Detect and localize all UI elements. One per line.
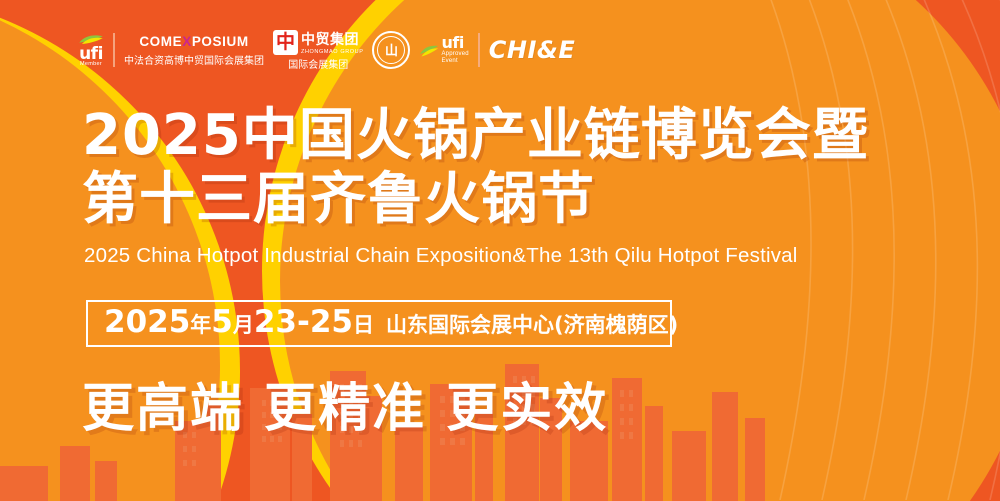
ufi-member-label: Member (80, 61, 102, 68)
logo-divider (478, 33, 480, 67)
date-year: 2025 (104, 304, 190, 340)
date-month: 5 (211, 304, 233, 340)
comexposium-word-left: COME (139, 34, 182, 49)
zhongmao-english-name: ZHONGMAO GROUP (301, 49, 363, 55)
logo-chie: CHI&E (489, 36, 575, 64)
event-slogan: 更高端 更精准 更实效 (82, 380, 608, 438)
comexposium-chinese-name: 中法合资高博中贸国际会展集团 (124, 51, 264, 67)
date-day-unit: 日 (353, 313, 374, 337)
logo-divider (113, 33, 115, 67)
ufi-event-label: Event (441, 58, 468, 65)
date-days: 23-25 (254, 304, 353, 340)
date-month-unit: 月 (233, 313, 254, 337)
ufi-approved-label: Approved (441, 51, 468, 58)
chie-wordmark: CHI&E (489, 36, 575, 64)
ufi-wing-icon (419, 41, 439, 59)
logo-zhongmao-group: 中 中贸集团 ZHONGMAO GROUP 国际会展集团 (273, 29, 363, 71)
shandong-seal-icon: 山 (372, 31, 410, 69)
logo-ufi-approved-event: ufi Approved Event (419, 35, 468, 65)
headline-line-2: 第十三届齐鲁火锅节 (82, 168, 922, 232)
logo-comexposium: COMEXPOSIUM 中法合资高博中贸国际会展集团 (124, 34, 264, 67)
logo-ufi-member: ufi Member (78, 33, 104, 68)
page-subtitle: 2025 China Hotpot Industrial Chain Expos… (84, 244, 798, 268)
date-venue-box: 2025年5月23-25日 山东国际会展中心(济南槐荫区) (86, 300, 672, 347)
event-poster: ufi Member COMEXPOSIUM 中法合资高博中贸国际会展集团 中 … (0, 0, 1000, 501)
event-date: 2025年5月23-25日 (104, 307, 374, 341)
zhongmao-mark-icon: 中 (273, 30, 298, 55)
ufi-wordmark: ufi (441, 35, 468, 51)
sponsor-logo-strip: ufi Member COMEXPOSIUM 中法合资高博中贸国际会展集团 中 … (78, 26, 575, 74)
comexposium-wordmark: COMEXPOSIUM (139, 34, 248, 49)
page-title: 2025中国火锅产业链博览会暨 第十三届齐鲁火锅节 (82, 104, 922, 232)
headline-line-1: 2025中国火锅产业链博览会暨 (82, 103, 869, 168)
zhongmao-chinese-name: 中贸集团 (301, 29, 363, 49)
comexposium-word-x: X (182, 34, 192, 49)
comexposium-word-right: POSIUM (192, 34, 249, 49)
zhongmao-subtitle: 国际会展集团 (288, 56, 348, 71)
event-venue: 山东国际会展中心(济南槐荫区) (386, 309, 678, 339)
ufi-wordmark: ufi (79, 47, 103, 61)
logo-official-seal: 山 (372, 31, 410, 69)
date-year-unit: 年 (190, 313, 211, 337)
